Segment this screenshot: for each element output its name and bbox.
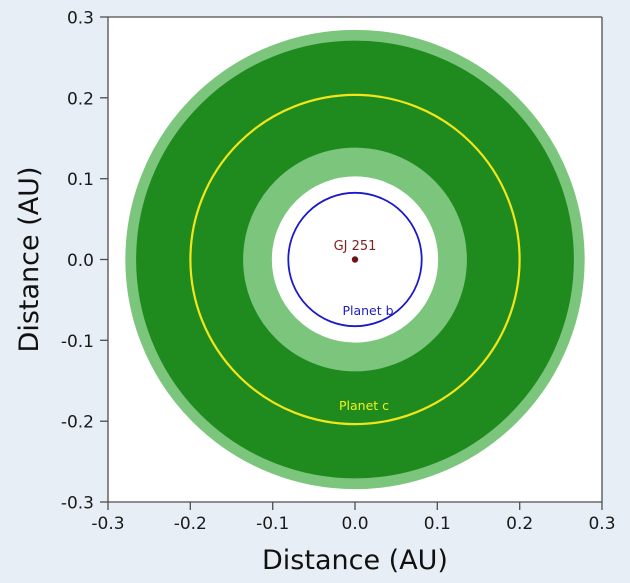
y-tick-label-6: -0.3: [61, 494, 94, 514]
x-axis-title: Distance (AU): [262, 545, 448, 576]
y-tick-label-4: -0.1: [61, 332, 94, 352]
x-tick-label-6: 0.3: [588, 514, 615, 534]
y-tick-label-0: 0.3: [67, 9, 94, 29]
x-tick-label-0: -0.3: [91, 514, 124, 534]
y-axis-title: Distance (AU): [14, 167, 45, 353]
y-tick-label-1: 0.2: [67, 89, 94, 109]
orbit-diagram-svg: GJ 251 Planet b Planet c: [0, 0, 630, 583]
y-tick-label-5: -0.2: [61, 413, 94, 433]
orbit-label-planet-b: Planet b: [342, 303, 393, 318]
orbit-label-planet-c: Planet c: [339, 398, 389, 413]
y-tick-label-2: 0.1: [67, 170, 94, 190]
star-label: GJ 251: [334, 239, 377, 254]
star-marker: [352, 256, 358, 262]
x-tick-label-2: -0.1: [256, 514, 289, 534]
x-tick-label-1: -0.2: [174, 514, 207, 534]
x-tick-label-3: 0.0: [341, 514, 368, 534]
y-tick-label-3: 0.0: [67, 251, 94, 271]
x-tick-label-5: 0.2: [506, 514, 533, 534]
x-tick-label-4: 0.1: [424, 514, 451, 534]
habitable-zone-figure: GJ 251 Planet b Planet c: [0, 0, 630, 583]
